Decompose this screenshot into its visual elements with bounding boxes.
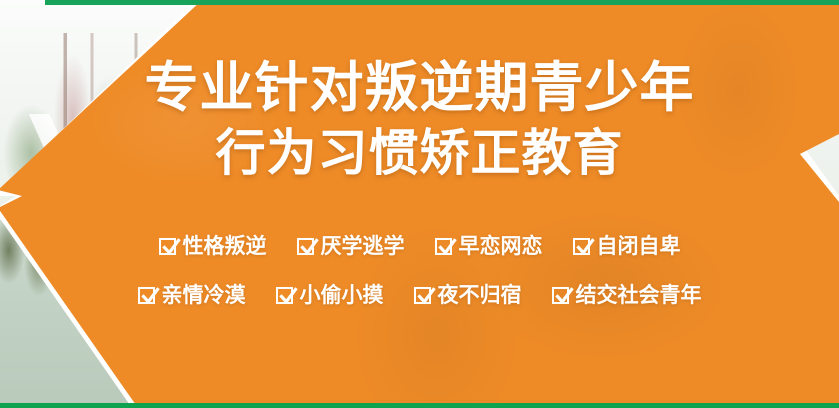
feature-row-2: 亲情冷漠 小偷小摸 夜不归宿 [0, 285, 839, 306]
headline-line-2: 行为习惯矫正教育 [0, 124, 839, 182]
check-icon [573, 238, 590, 255]
feature-item: 亲情冷漠 [138, 285, 246, 306]
promo-banner: 专业针对叛逆期青少年 行为习惯矫正教育 性格叛逆 厌学逃学 [0, 0, 839, 408]
feature-label: 早恋网恋 [459, 236, 543, 257]
feature-label: 小偷小摸 [300, 285, 384, 306]
feature-label: 夜不归宿 [438, 285, 522, 306]
feature-row-1: 性格叛逆 厌学逃学 早恋网恋 [0, 236, 839, 257]
feature-item: 小偷小摸 [276, 285, 384, 306]
headline-line-1: 专业针对叛逆期青少年 [0, 58, 839, 118]
feature-item: 结交社会青年 [552, 285, 702, 306]
feature-label: 性格叛逆 [183, 236, 267, 257]
feature-label: 厌学逃学 [321, 236, 405, 257]
check-icon [297, 238, 314, 255]
feature-label: 亲情冷漠 [162, 285, 246, 306]
feature-label: 自闭自卑 [597, 236, 681, 257]
headline: 专业针对叛逆期青少年 行为习惯矫正教育 [0, 58, 839, 182]
feature-item: 夜不归宿 [414, 285, 522, 306]
check-icon [435, 238, 452, 255]
check-icon [414, 287, 431, 304]
feature-item: 性格叛逆 [159, 236, 267, 257]
check-icon [138, 287, 155, 304]
banner-content: 专业针对叛逆期青少年 行为习惯矫正教育 性格叛逆 厌学逃学 [0, 0, 839, 408]
feature-item: 厌学逃学 [297, 236, 405, 257]
check-icon [159, 238, 176, 255]
feature-item: 自闭自卑 [573, 236, 681, 257]
check-icon [552, 287, 569, 304]
feature-item: 早恋网恋 [435, 236, 543, 257]
feature-list: 性格叛逆 厌学逃学 早恋网恋 [0, 236, 839, 334]
feature-label: 结交社会青年 [576, 285, 702, 306]
check-icon [276, 287, 293, 304]
